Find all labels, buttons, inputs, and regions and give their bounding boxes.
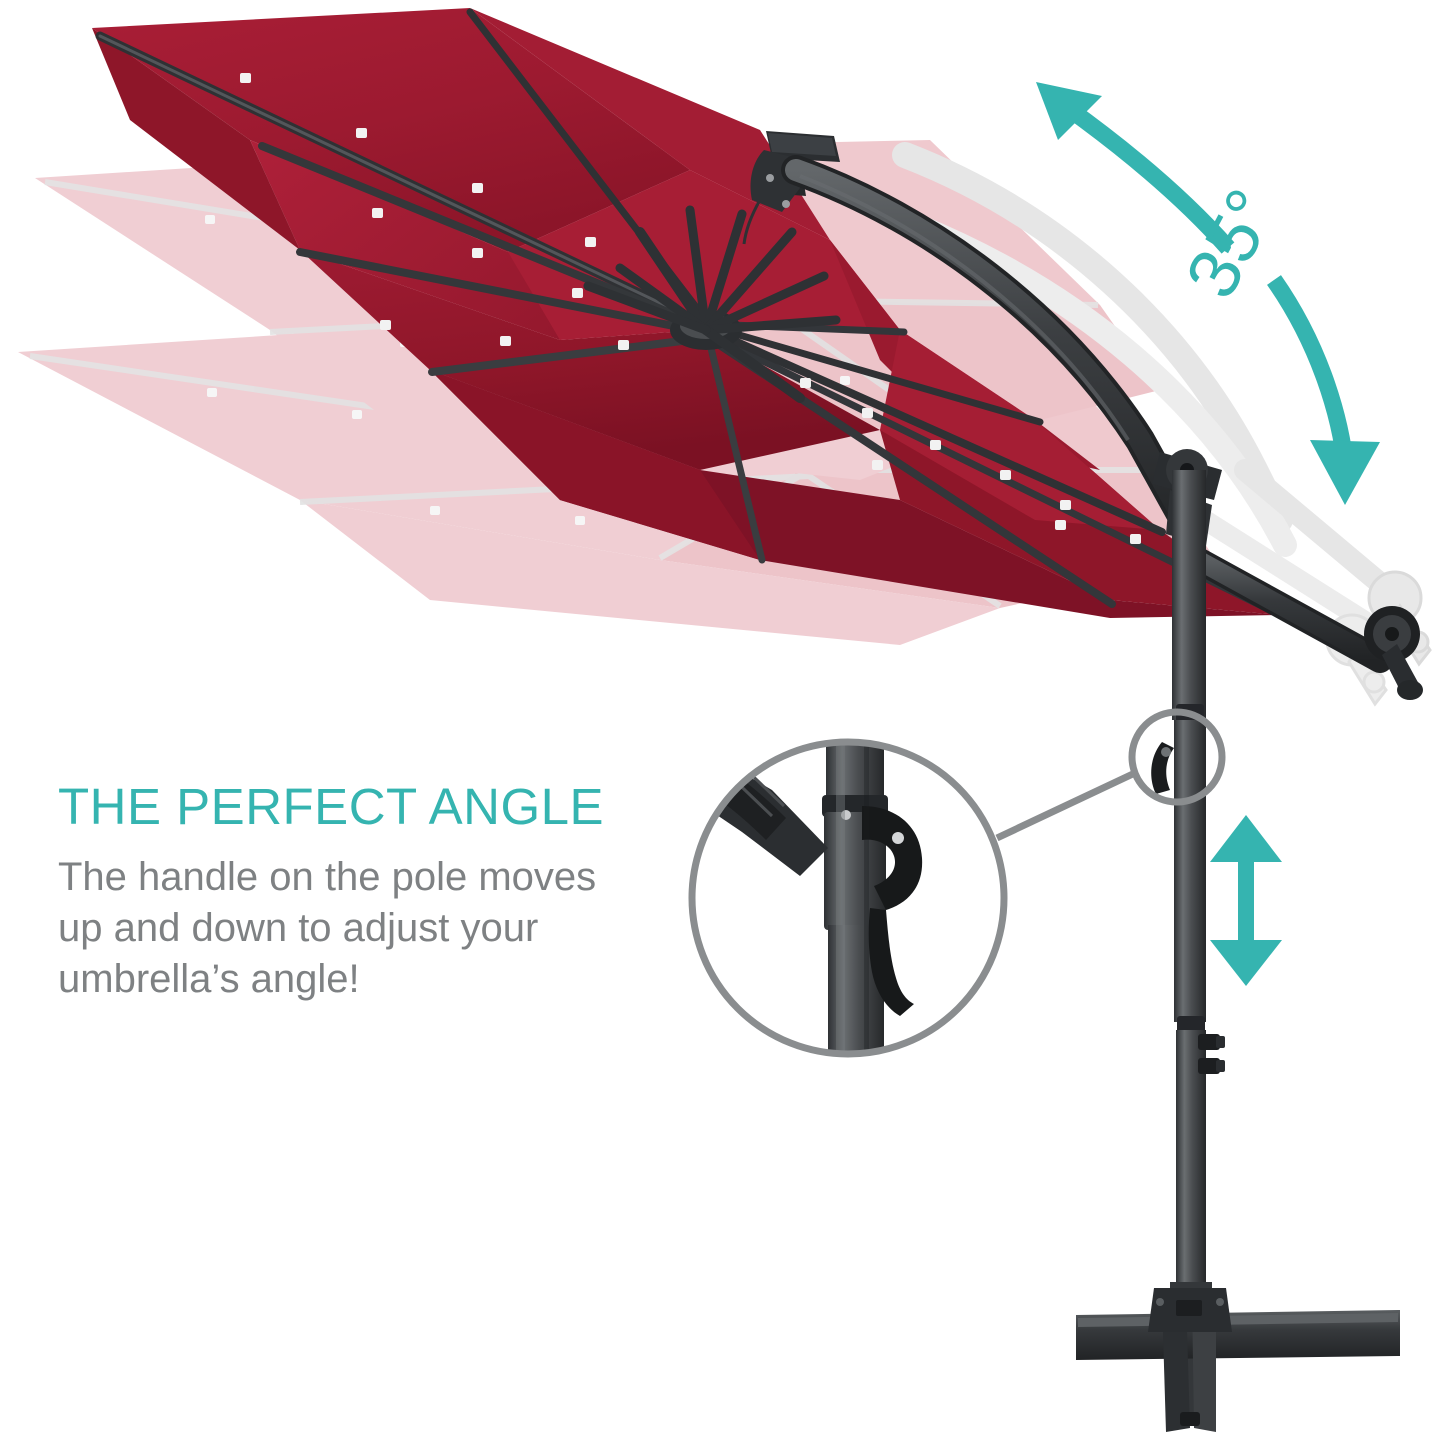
description-line-2: up and down to adjust your: [58, 906, 538, 950]
product-illustration: 35°: [0, 0, 1445, 1445]
description-line-3: umbrella’s angle!: [58, 957, 360, 1001]
pole-lever-handle[interactable]: [1151, 742, 1174, 794]
copy-block: THE PERFECT ANGLE The handle on the pole…: [58, 778, 678, 1005]
infographic-canvas: 35° THE PERFECT ANGLE The handle on the …: [0, 0, 1445, 1445]
umbrella-base: [1076, 1282, 1400, 1432]
page-title: THE PERFECT ANGLE: [58, 778, 678, 836]
handle-detail-zoom: [680, 700, 1004, 1065]
description-text: The handle on the pole moves up and down…: [58, 852, 633, 1005]
height-adjust-arrow: [1210, 815, 1282, 986]
description-line-1: The handle on the pole moves: [58, 855, 596, 899]
